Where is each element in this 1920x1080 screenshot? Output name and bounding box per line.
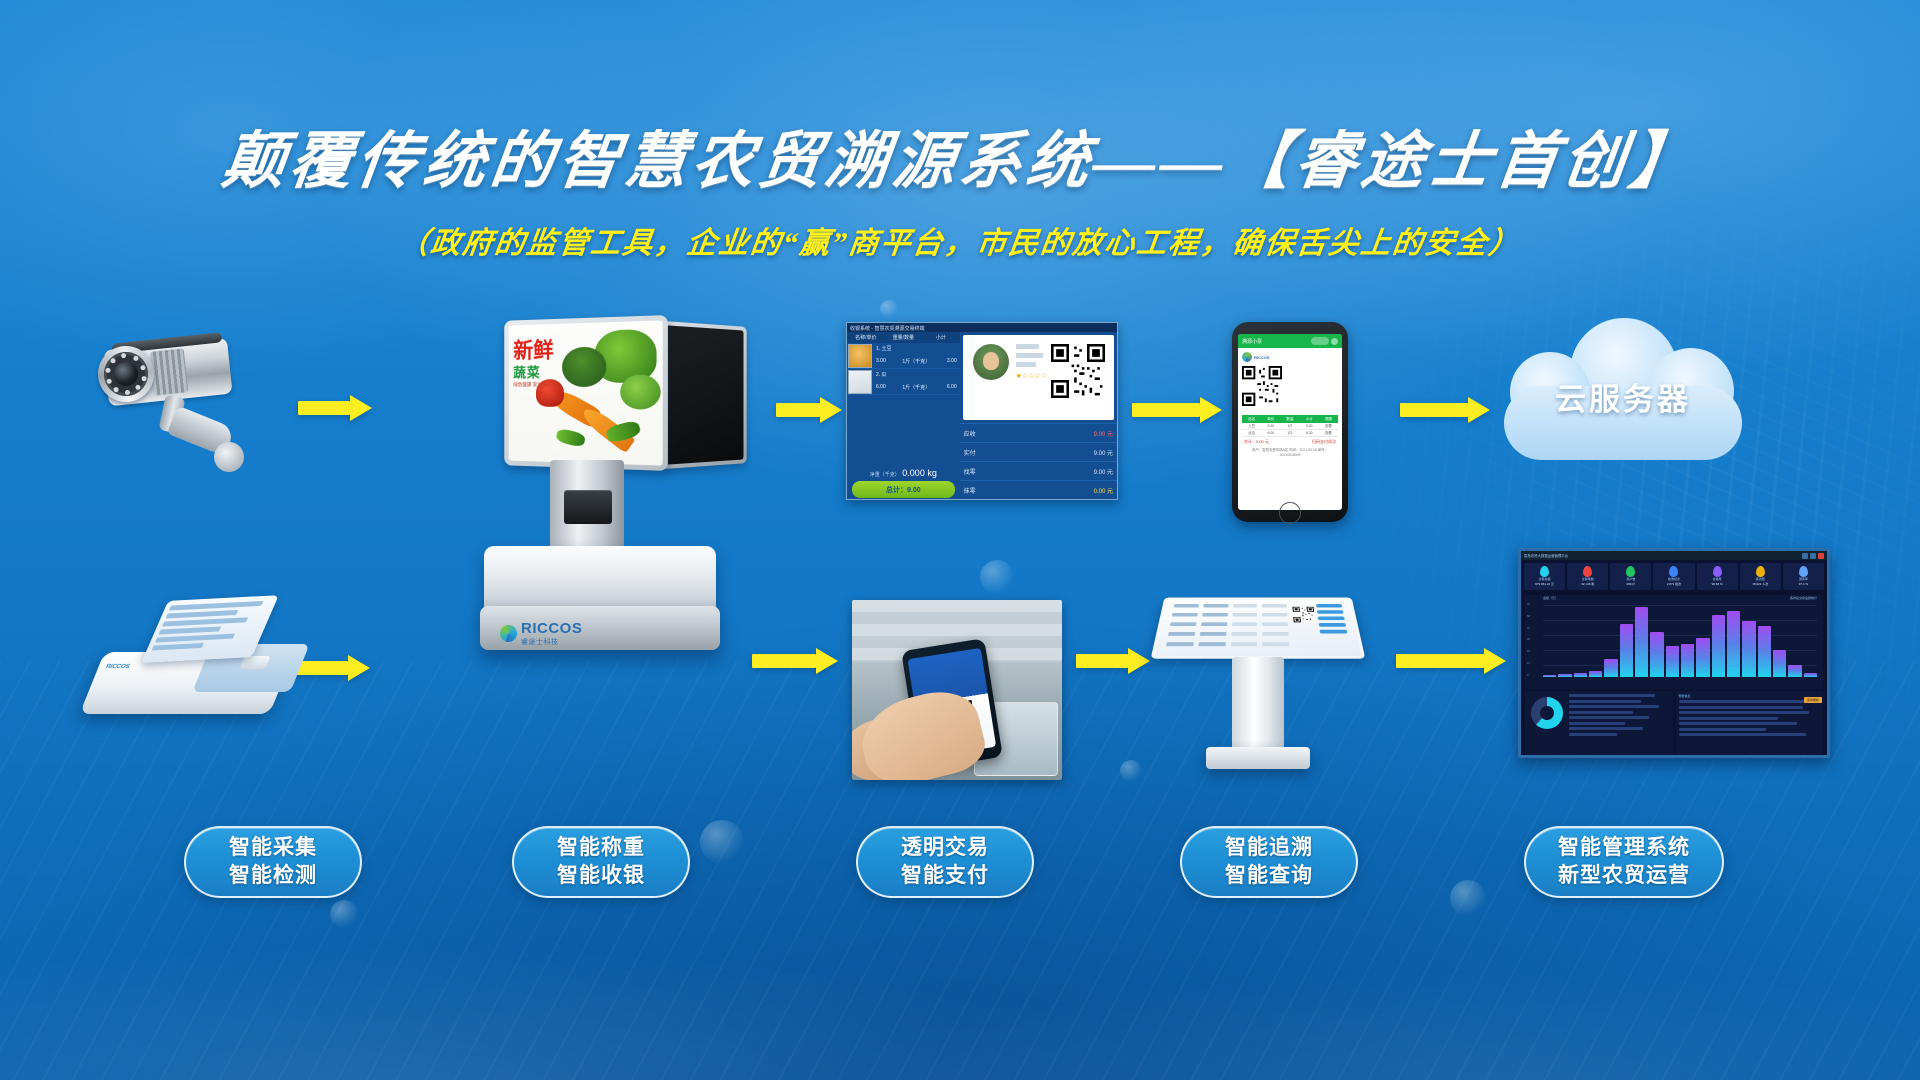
item-thumbnail — [848, 344, 872, 368]
stat-bubble-icon — [1669, 566, 1678, 577]
arrow-phone-to-cloud — [1400, 397, 1490, 423]
stage-label-management[interactable]: 智能管理系统 新型农贸运营 — [1524, 826, 1724, 898]
y-tick-label: 12 — [1527, 662, 1542, 665]
weight-readout: 净重（千克） 0.000 kg — [852, 468, 955, 478]
chart-gridlines — [1543, 605, 1817, 677]
dashboard-bottom-panels: 预警信息 — [1521, 691, 1827, 758]
bubble-decoration — [1450, 880, 1486, 916]
camera-mount — [214, 442, 244, 472]
pos-software-cart: 名称/单价 重量/数量 小计 1. 土豆 3.00 1斤（千克） 3.00 — [847, 332, 960, 500]
smartphone-receipt: 溯源小票 RICCOS — [1232, 322, 1348, 522]
stage-label-collection[interactable]: 智能采集 智能检测 — [184, 826, 362, 898]
dashboard-stat-cards: 交易总额 879,651.22 元 交易笔数 32,148 笔 商户数 389 … — [1521, 560, 1827, 593]
y-tick-label: 58 — [1527, 615, 1542, 618]
money-row: 抹零 0.00 元 — [960, 480, 1117, 499]
bubble-decoration — [700, 820, 744, 864]
chart-y-axis-label: 金额（元） — [1543, 596, 1558, 600]
money-value: 9.00 元 — [1094, 467, 1113, 476]
stat-value: 18,921 人次 — [1752, 583, 1768, 587]
vendor-avatar — [973, 344, 1009, 380]
label-line-1: 透明交易 — [901, 834, 989, 862]
pos-ad-caption: 绿色健康 安全放心 — [513, 382, 555, 389]
cloud-server: 云服务器 — [1498, 318, 1748, 468]
column-header: 小计 — [922, 334, 960, 341]
trace-link[interactable]: 查看 — [1319, 430, 1338, 436]
weight-value: 0.000 kg — [902, 468, 937, 478]
detector-brand-mark: RICCOS — [105, 664, 131, 670]
label-line-2: 智能支付 — [901, 862, 989, 890]
pos-ad-screen: 新鲜 蔬菜 绿色健康 安全放心 — [509, 320, 663, 465]
pesticide-detector-device: RICCOS — [92, 600, 322, 740]
bubble-decoration — [980, 560, 1014, 594]
phone-header-pill[interactable] — [1311, 337, 1329, 345]
kiosk-stand — [1232, 657, 1284, 755]
phone-brand-logo: RICCOS — [1242, 352, 1338, 362]
stage-label-weighing[interactable]: 智能称重 智能收银 — [512, 826, 690, 898]
alert-log-panel: 预警信息 — [1676, 691, 1824, 755]
money-value: 0.00 元 — [1094, 486, 1113, 495]
column-header: 重量/数量 — [885, 334, 923, 341]
item-qty: 3.00 — [876, 358, 886, 365]
traceability-qr-code — [1051, 344, 1105, 398]
cell: 3.00 — [1300, 423, 1319, 429]
arrow-software-to-phone — [1132, 397, 1222, 423]
pos-scale-device: 新鲜 蔬菜 绿色健康 安全放心 RICCOS 睿途士科技 — [478, 318, 778, 738]
arrow-payment-to-kiosk — [1076, 648, 1150, 674]
stat-bubble-icon — [1713, 566, 1722, 577]
weight-label: 净重（千克） — [870, 472, 900, 478]
y-tick-label: 0 — [1527, 674, 1542, 677]
stat-card[interactable]: 溯源率 97.4 % — [1783, 563, 1824, 590]
kiosk-touchscreen[interactable] — [1151, 597, 1366, 658]
pos-software-cart-header: 名称/单价 重量/数量 小计 — [847, 332, 960, 343]
kiosk-qr-panel — [1292, 604, 1351, 650]
item-name: 1. 土豆 — [876, 345, 957, 352]
money-label: 抹零 — [964, 486, 976, 495]
pos-ad-headline: 新鲜 — [513, 340, 555, 363]
brand-name: RICCOS — [521, 620, 582, 637]
query-kiosk-device — [1158, 585, 1358, 780]
money-row: 应收 9.00 元 — [960, 423, 1117, 442]
phone-app-header: 溯源小票 — [1238, 334, 1342, 348]
stat-value: 97.4 % — [1799, 583, 1808, 587]
dashboard-titlebar: 智慧农贸大数据运营管理平台 — [1521, 551, 1827, 560]
item-unit: 1斤（千克） — [902, 358, 930, 365]
phone-screen: 溯源小票 RICCOS — [1238, 334, 1342, 510]
column-header: 品名 — [1242, 415, 1261, 423]
stat-bubble-icon — [1540, 566, 1549, 577]
arrow-camera-to-pos — [298, 395, 372, 421]
mobile-payment-photo — [852, 600, 1062, 780]
cell: 3.00 — [1261, 423, 1280, 429]
detector-button — [239, 656, 270, 669]
riccos-logo-mark — [500, 625, 517, 642]
money-label: 实付 — [964, 448, 976, 457]
item-amount: 6.00 — [947, 384, 957, 391]
pos-customer-display — [662, 321, 747, 469]
item-qty: 6.00 — [876, 384, 886, 391]
y-tick-label: 23 — [1527, 650, 1542, 653]
phone-home-button[interactable] — [1279, 502, 1301, 524]
category-ratio-panel — [1525, 691, 1673, 755]
stat-value: 2,871 批次 — [1667, 583, 1681, 587]
stat-card[interactable]: 交易总额 879,651.22 元 — [1524, 563, 1565, 590]
label-line-1: 智能采集 — [229, 834, 317, 862]
label-line-1: 智能追溯 — [1225, 834, 1313, 862]
page-title: 颠覆传统的智慧农贸溯源系统——【睿途士首创】 — [0, 128, 1920, 196]
close-icon[interactable] — [1331, 338, 1338, 345]
column-header: 数量 — [1280, 415, 1299, 423]
checkout-total-button[interactable]: 总计：9.00 — [852, 481, 955, 498]
close-icon[interactable] — [1818, 553, 1824, 559]
pos-main-display: 新鲜 蔬菜 绿色健康 安全放心 — [504, 315, 668, 471]
stat-card[interactable]: 合格率 99.68 % — [1697, 563, 1738, 590]
stage-label-traceability[interactable]: 智能追溯 智能查询 — [1180, 826, 1358, 898]
column-header: 小计 — [1300, 415, 1319, 423]
stat-bubble-icon — [1583, 566, 1592, 577]
stat-bubble-icon — [1756, 566, 1765, 577]
cart-row[interactable]: 2. 瓜 6.00 1斤（千克） 6.00 — [847, 369, 960, 395]
column-header: 名称/单价 — [847, 334, 885, 341]
stat-card[interactable]: 商户数 389 户 — [1610, 563, 1651, 590]
item-amount: 3.00 — [947, 358, 957, 365]
label-line-1: 智能称重 — [557, 834, 645, 862]
bubble-decoration — [880, 300, 898, 318]
receipt-row: 丝瓜 6.00 1斤 6.00 查看 — [1242, 430, 1338, 437]
pos-software-vendor-panel: ★☆☆☆☆ — [960, 332, 1117, 500]
panel-header: 预警信息 — [1679, 694, 1821, 698]
receipt-row: 土豆 3.00 1斤 3.00 查看 — [1242, 423, 1338, 430]
minimize-icon[interactable] — [1802, 553, 1808, 559]
brand-name: RICCOS — [1254, 355, 1270, 360]
bubble-decoration — [330, 900, 358, 928]
receipt-status: 扫码支付成功 — [1312, 439, 1336, 445]
cctv-camera-icon — [96, 330, 286, 490]
stage-label-transaction[interactable]: 透明交易 智能支付 — [856, 826, 1034, 898]
receipt-footer: 商户：智慧农贸市场A区 时间：2021-05-18 单号：20210518009 — [1242, 448, 1338, 459]
label-line-2: 智能检测 — [229, 862, 317, 890]
cell: 6.00 — [1261, 430, 1280, 436]
pos-ad-subhead: 蔬菜 — [513, 362, 555, 382]
ranking-list — [1566, 694, 1670, 752]
stat-card[interactable]: 检测批次 2,871 批次 — [1653, 563, 1694, 590]
cart-row[interactable]: 1. 土豆 3.00 1斤（千克） 3.00 — [847, 343, 960, 369]
arrow-pos-to-software — [776, 397, 842, 423]
receipt-table-header: 品名 单价 数量 小计 溯源 — [1242, 415, 1338, 423]
item-unit: 1斤（千克） — [902, 384, 930, 391]
stat-bubble-icon — [1626, 566, 1635, 577]
label-line-2: 智能收银 — [557, 862, 645, 890]
vendor-fields: ★☆☆☆☆ — [1014, 340, 1047, 415]
cell: 6.00 — [1300, 430, 1319, 436]
stat-value: 32,148 笔 — [1581, 583, 1594, 587]
camera-ridges — [150, 348, 188, 395]
cell: 1斤 — [1280, 423, 1299, 429]
receipt-qr-code — [1242, 366, 1282, 406]
arrow-kiosk-to-dashboard — [1396, 648, 1506, 674]
pos-software-titlebar: 收银系统 - 智慧农贸溯源交易终端 — [847, 323, 1117, 332]
kiosk-base — [1206, 747, 1310, 769]
riccos-logo-mark — [1242, 352, 1252, 362]
management-dashboard-screen: 智慧农贸大数据运营管理平台 交易总额 879,651.22 元 交易笔数 32,… — [1518, 548, 1830, 758]
money-value: 9.00 元 — [1094, 429, 1113, 438]
receipt-total-row: 合计：9.00 元 扫码支付成功 — [1242, 437, 1338, 445]
dashboard-refresh-badge[interactable]: 实时刷新 — [1804, 697, 1822, 703]
stat-value: 389 户 — [1626, 583, 1635, 587]
money-value: 9.00 元 — [1094, 448, 1113, 457]
y-tick-label: 47 — [1527, 627, 1542, 630]
transaction-bar-chart: 7058473523120 金额（元） 各时段交易金额统计 — [1525, 595, 1823, 689]
dashboard-window-title: 智慧农贸大数据运营管理平台 — [1521, 553, 1800, 558]
stat-card[interactable]: 客流量 18,921 人次 — [1740, 563, 1781, 590]
kiosk-menu-buttons[interactable] — [1316, 604, 1351, 650]
pos-ad-text: 新鲜 蔬菜 绿色健康 安全放心 — [513, 340, 555, 390]
phone-header-title: 溯源小票 — [1242, 338, 1262, 345]
money-row: 找零 9.00 元 — [960, 461, 1117, 480]
page-subtitle: （政府的监管工具，企业的“赢”商平台，市民的放心工程，确保舌尖上的安全） — [0, 218, 1920, 262]
money-label: 找零 — [964, 467, 976, 476]
pos-brand-logo: RICCOS 睿途士科技 — [500, 620, 582, 647]
column-header: 溯源 — [1319, 415, 1338, 423]
item-thumbnail — [848, 370, 872, 394]
title-block: 颠覆传统的智慧农贸溯源系统——【睿途士首创】 （政府的监管工具，企业的“赢”商平… — [0, 128, 1920, 262]
chart-title: 各时段交易金额统计 — [1790, 596, 1817, 600]
item-name: 2. 瓜 — [876, 371, 957, 378]
cell: 丝瓜 — [1242, 430, 1261, 436]
bubble-decoration — [1120, 760, 1142, 782]
label-line-2: 智能查询 — [1225, 862, 1313, 890]
stat-value: 879,651.22 元 — [1535, 583, 1554, 587]
vendor-card: ★☆☆☆☆ — [963, 335, 1114, 420]
kiosk-qr-code — [1292, 604, 1316, 625]
y-tick-label: 35 — [1527, 638, 1542, 641]
pos-software-screenshot: 收银系统 - 智慧农贸溯源交易终端 名称/单价 重量/数量 小计 1. 土豆 3… — [846, 322, 1118, 500]
column-header: 单价 — [1261, 415, 1280, 423]
trace-link[interactable]: 查看 — [1319, 423, 1338, 429]
stat-card[interactable]: 交易笔数 32,148 笔 — [1567, 563, 1608, 590]
donut-chart — [1531, 697, 1563, 729]
chart-y-axis-ticks: 7058473523120 — [1527, 603, 1542, 677]
label-line-1: 智能管理系统 — [1558, 834, 1690, 862]
vendor-rating-stars: ★☆☆☆☆ — [1016, 372, 1047, 380]
receipt-total: 合计：9.00 元 — [1244, 439, 1269, 445]
cloud-server-label: 云服务器 — [1498, 374, 1748, 419]
maximize-icon[interactable] — [1810, 553, 1816, 559]
cell: 土豆 — [1242, 423, 1261, 429]
brand-name-cn: 睿途士科技 — [521, 637, 582, 647]
stat-bubble-icon — [1799, 566, 1808, 577]
cell: 1斤 — [1280, 430, 1299, 436]
y-tick-label: 70 — [1527, 603, 1542, 606]
label-line-2: 新型农贸运营 — [1558, 862, 1690, 890]
stat-value: 99.68 % — [1712, 583, 1723, 587]
kiosk-info-grid — [1165, 604, 1289, 650]
money-label: 应收 — [964, 429, 976, 438]
pos-printer-slot — [564, 490, 612, 524]
money-row: 实付 9.00 元 — [960, 442, 1117, 461]
